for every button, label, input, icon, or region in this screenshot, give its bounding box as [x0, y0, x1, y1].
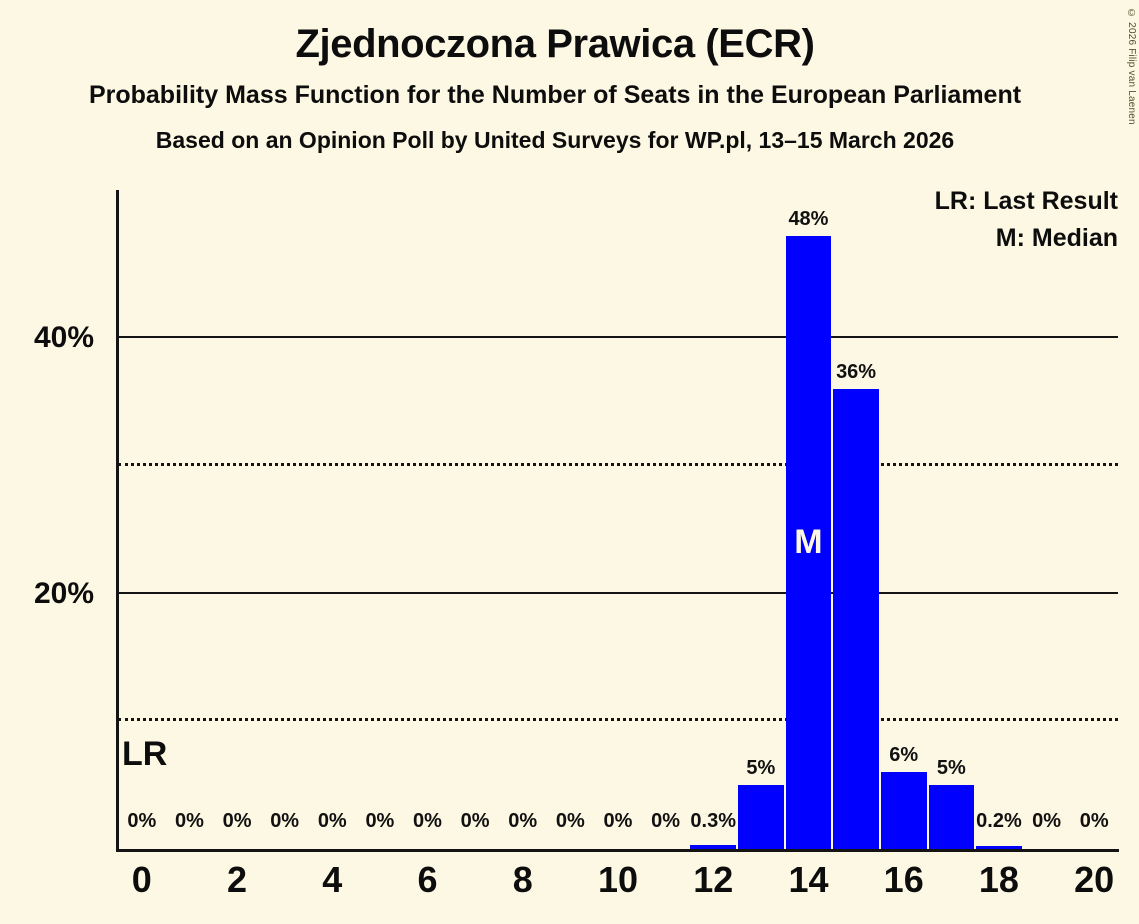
bar-slot[interactable]: 0%	[547, 190, 595, 849]
x-axis-tick-label: 4	[322, 862, 342, 898]
x-axis-tick-label: 12	[693, 862, 733, 898]
bar-value-label: 0%	[413, 811, 442, 831]
median-marker: M	[794, 525, 822, 559]
bar-value-label: 0%	[461, 811, 490, 831]
bar-value-label: 0%	[604, 811, 633, 831]
bar-value-label: 5%	[746, 758, 775, 778]
bar-slot[interactable]: 0%	[308, 190, 356, 849]
bar-value-label: 0%	[365, 811, 394, 831]
title-block: Zjednoczona Prawica (ECR) Probability Ma…	[0, 0, 1110, 152]
bar-slot[interactable]: 0%LR	[118, 190, 166, 849]
x-axis-tick-label: 2	[227, 862, 247, 898]
bar-slot[interactable]: 48%M	[785, 190, 833, 849]
bar[interactable]	[976, 846, 1022, 849]
bar-slot[interactable]: 36%	[832, 190, 880, 849]
bar-value-label: 5%	[937, 758, 966, 778]
bar-slot[interactable]: 0.2%	[975, 190, 1023, 849]
bar[interactable]	[690, 845, 736, 849]
bar[interactable]	[881, 772, 927, 849]
x-axis-tick-label: 16	[884, 862, 924, 898]
bar-value-label: 0%	[223, 811, 252, 831]
y-axis-tick-label: 20%	[34, 579, 94, 609]
x-axis-tick-label: 18	[979, 862, 1019, 898]
chart-subtitle: Probability Mass Function for the Number…	[0, 83, 1110, 108]
bar-value-label: 0%	[270, 811, 299, 831]
bar-value-label: 36%	[836, 362, 876, 382]
bar[interactable]	[929, 785, 975, 849]
bar-slot[interactable]: 0%	[594, 190, 642, 849]
page-title: Zjednoczona Prawica (ECR)	[0, 24, 1110, 64]
x-axis-tick-label: 8	[513, 862, 533, 898]
bar-value-label: 0%	[508, 811, 537, 831]
bar-slot[interactable]: 0%	[166, 190, 214, 849]
bar-slot[interactable]: 0%	[213, 190, 261, 849]
bar-value-label: 0%	[651, 811, 680, 831]
bar-slot[interactable]: 0%	[356, 190, 404, 849]
bar-value-label: 6%	[889, 745, 918, 765]
bar-slot[interactable]: 0%	[404, 190, 452, 849]
bar-slot[interactable]: 0%	[451, 190, 499, 849]
bar-slot[interactable]: 0%	[261, 190, 309, 849]
x-axis-tick-label: 0	[132, 862, 152, 898]
x-axis-tick-labels: 02468101214161820	[118, 862, 1118, 917]
bar-value-label: 0%	[1032, 811, 1061, 831]
x-axis-tick-label: 14	[788, 862, 828, 898]
bar-value-label: 0%	[175, 811, 204, 831]
bar-slot[interactable]: 0.3%	[689, 190, 737, 849]
plot-area: 20%40% 0%LR0%0%0%0%0%0%0%0%0%0%0%0.3%5%4…	[118, 190, 1118, 849]
bar-slot[interactable]: 5%	[737, 190, 785, 849]
copyright-notice: © 2026 Filip van Laenen	[1126, 8, 1137, 125]
chart-source-note: Based on an Opinion Poll by United Surve…	[0, 129, 1110, 152]
last-result-marker: LR	[122, 737, 167, 771]
bar-slot[interactable]: 0%	[1023, 190, 1071, 849]
bar[interactable]	[833, 389, 879, 849]
bar-value-label: 48%	[788, 209, 828, 229]
bar-slot[interactable]: 6%	[880, 190, 928, 849]
bar-slot[interactable]: 0%	[499, 190, 547, 849]
bar-slot[interactable]: 0%	[642, 190, 690, 849]
bar-value-label: 0%	[318, 811, 347, 831]
x-axis-tick-label: 20	[1074, 862, 1114, 898]
x-axis-tick-label: 6	[418, 862, 438, 898]
y-axis-tick-label: 40%	[34, 323, 94, 353]
bar-value-label: 0%	[1080, 811, 1109, 831]
x-axis-line	[116, 849, 1119, 852]
bar-slot[interactable]: 5%	[928, 190, 976, 849]
bar-value-label: 0%	[556, 811, 585, 831]
bar-value-label: 0%	[127, 811, 156, 831]
bar-value-label: 0.3%	[690, 811, 736, 831]
x-axis-tick-label: 10	[598, 862, 638, 898]
bar-value-label: 0.2%	[976, 811, 1022, 831]
bar[interactable]	[738, 785, 784, 849]
bar-slot[interactable]: 0%	[1070, 190, 1118, 849]
